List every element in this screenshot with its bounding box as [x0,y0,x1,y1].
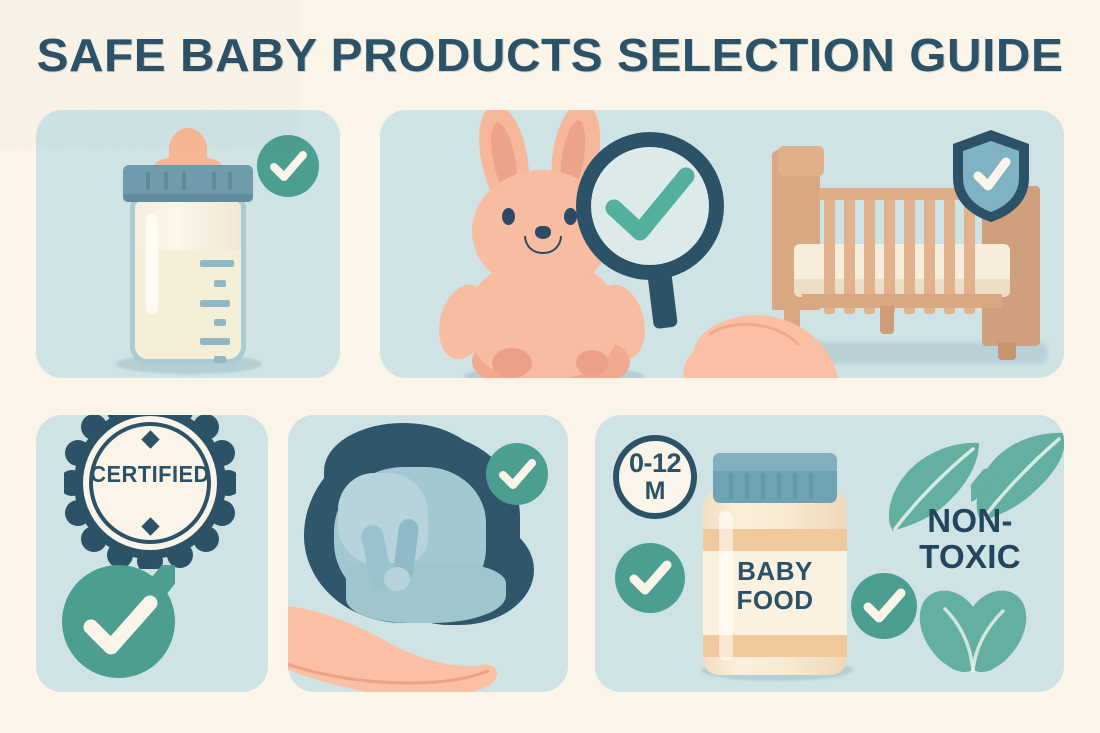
age-badge-icon: 0-12 M [613,435,697,519]
check-icon [604,164,696,248]
bottle-cap-lip [123,194,253,202]
shield-check-icon [950,128,1032,224]
cap-ridge [146,172,150,190]
certified-panel: CERTIFIED [36,415,268,692]
inspection-panel [380,110,1064,378]
leaf-heart-icon [915,583,1031,675]
bottle-highlight [146,214,158,314]
cap-ridge [212,172,216,190]
certified-label: CERTIFIED [68,461,231,488]
age-badge-range: 0-12 [629,450,681,477]
age-badge-unit: M [645,479,666,504]
crib-leg [998,342,1016,360]
jar-cap-ridge [745,473,749,499]
jar-cap-ridge [809,473,813,499]
bottle-tick [200,260,234,267]
cap-ridge [182,172,186,190]
infographic-canvas: SAFE BABY PRODUCTS SELECTION GUIDE [0,0,1100,733]
jar-label-line2: FOOD [703,586,847,615]
certified-seal-icon [64,415,236,569]
cap-ridge [164,172,168,190]
bottle-tick [214,356,226,363]
non-toxic-line2: TOXIC [885,539,1055,575]
bottle-tick [200,300,230,307]
crib-leg [880,306,894,334]
hand-icon [680,288,875,378]
food-panel: 0-12 M BABY FOOD [595,415,1064,692]
non-toxic-line1: NON- [885,503,1055,539]
check-circle-icon [62,565,175,678]
jar-cap-ridge [793,473,797,499]
jar-label-line1: BABY [703,557,847,586]
bottle-panel [36,110,340,378]
jar-cap-ridge [777,473,781,499]
bottle-tick [214,280,226,287]
bunny-eye-left [502,208,515,225]
bottle-tick [200,338,230,345]
jar-label-text: BABY FOOD [703,557,847,615]
bunny-foot-left [492,348,532,378]
jar-cap-ridge [761,473,765,499]
bunny-foot-right [576,350,608,376]
hand-icon [288,591,502,692]
baby-food-jar-icon: BABY FOOD [703,453,847,675]
bottle-tick [214,319,226,326]
check-circle-icon [257,135,319,197]
carseat-panel [288,415,568,692]
jar-cap-ridge [729,473,733,499]
page-title: SAFE BABY PRODUCTS SELECTION GUIDE [0,28,1100,82]
non-toxic-label: NON- TOXIC [885,503,1055,576]
magnifying-glass-icon [576,132,736,307]
crib-headboard-top [778,146,824,176]
car-seat-buckle [384,567,410,591]
check-circle-icon [851,573,917,639]
jar-cap-top [713,453,837,471]
cap-ridge [228,172,232,190]
check-circle-icon [615,543,685,613]
check-circle-icon [486,443,548,505]
